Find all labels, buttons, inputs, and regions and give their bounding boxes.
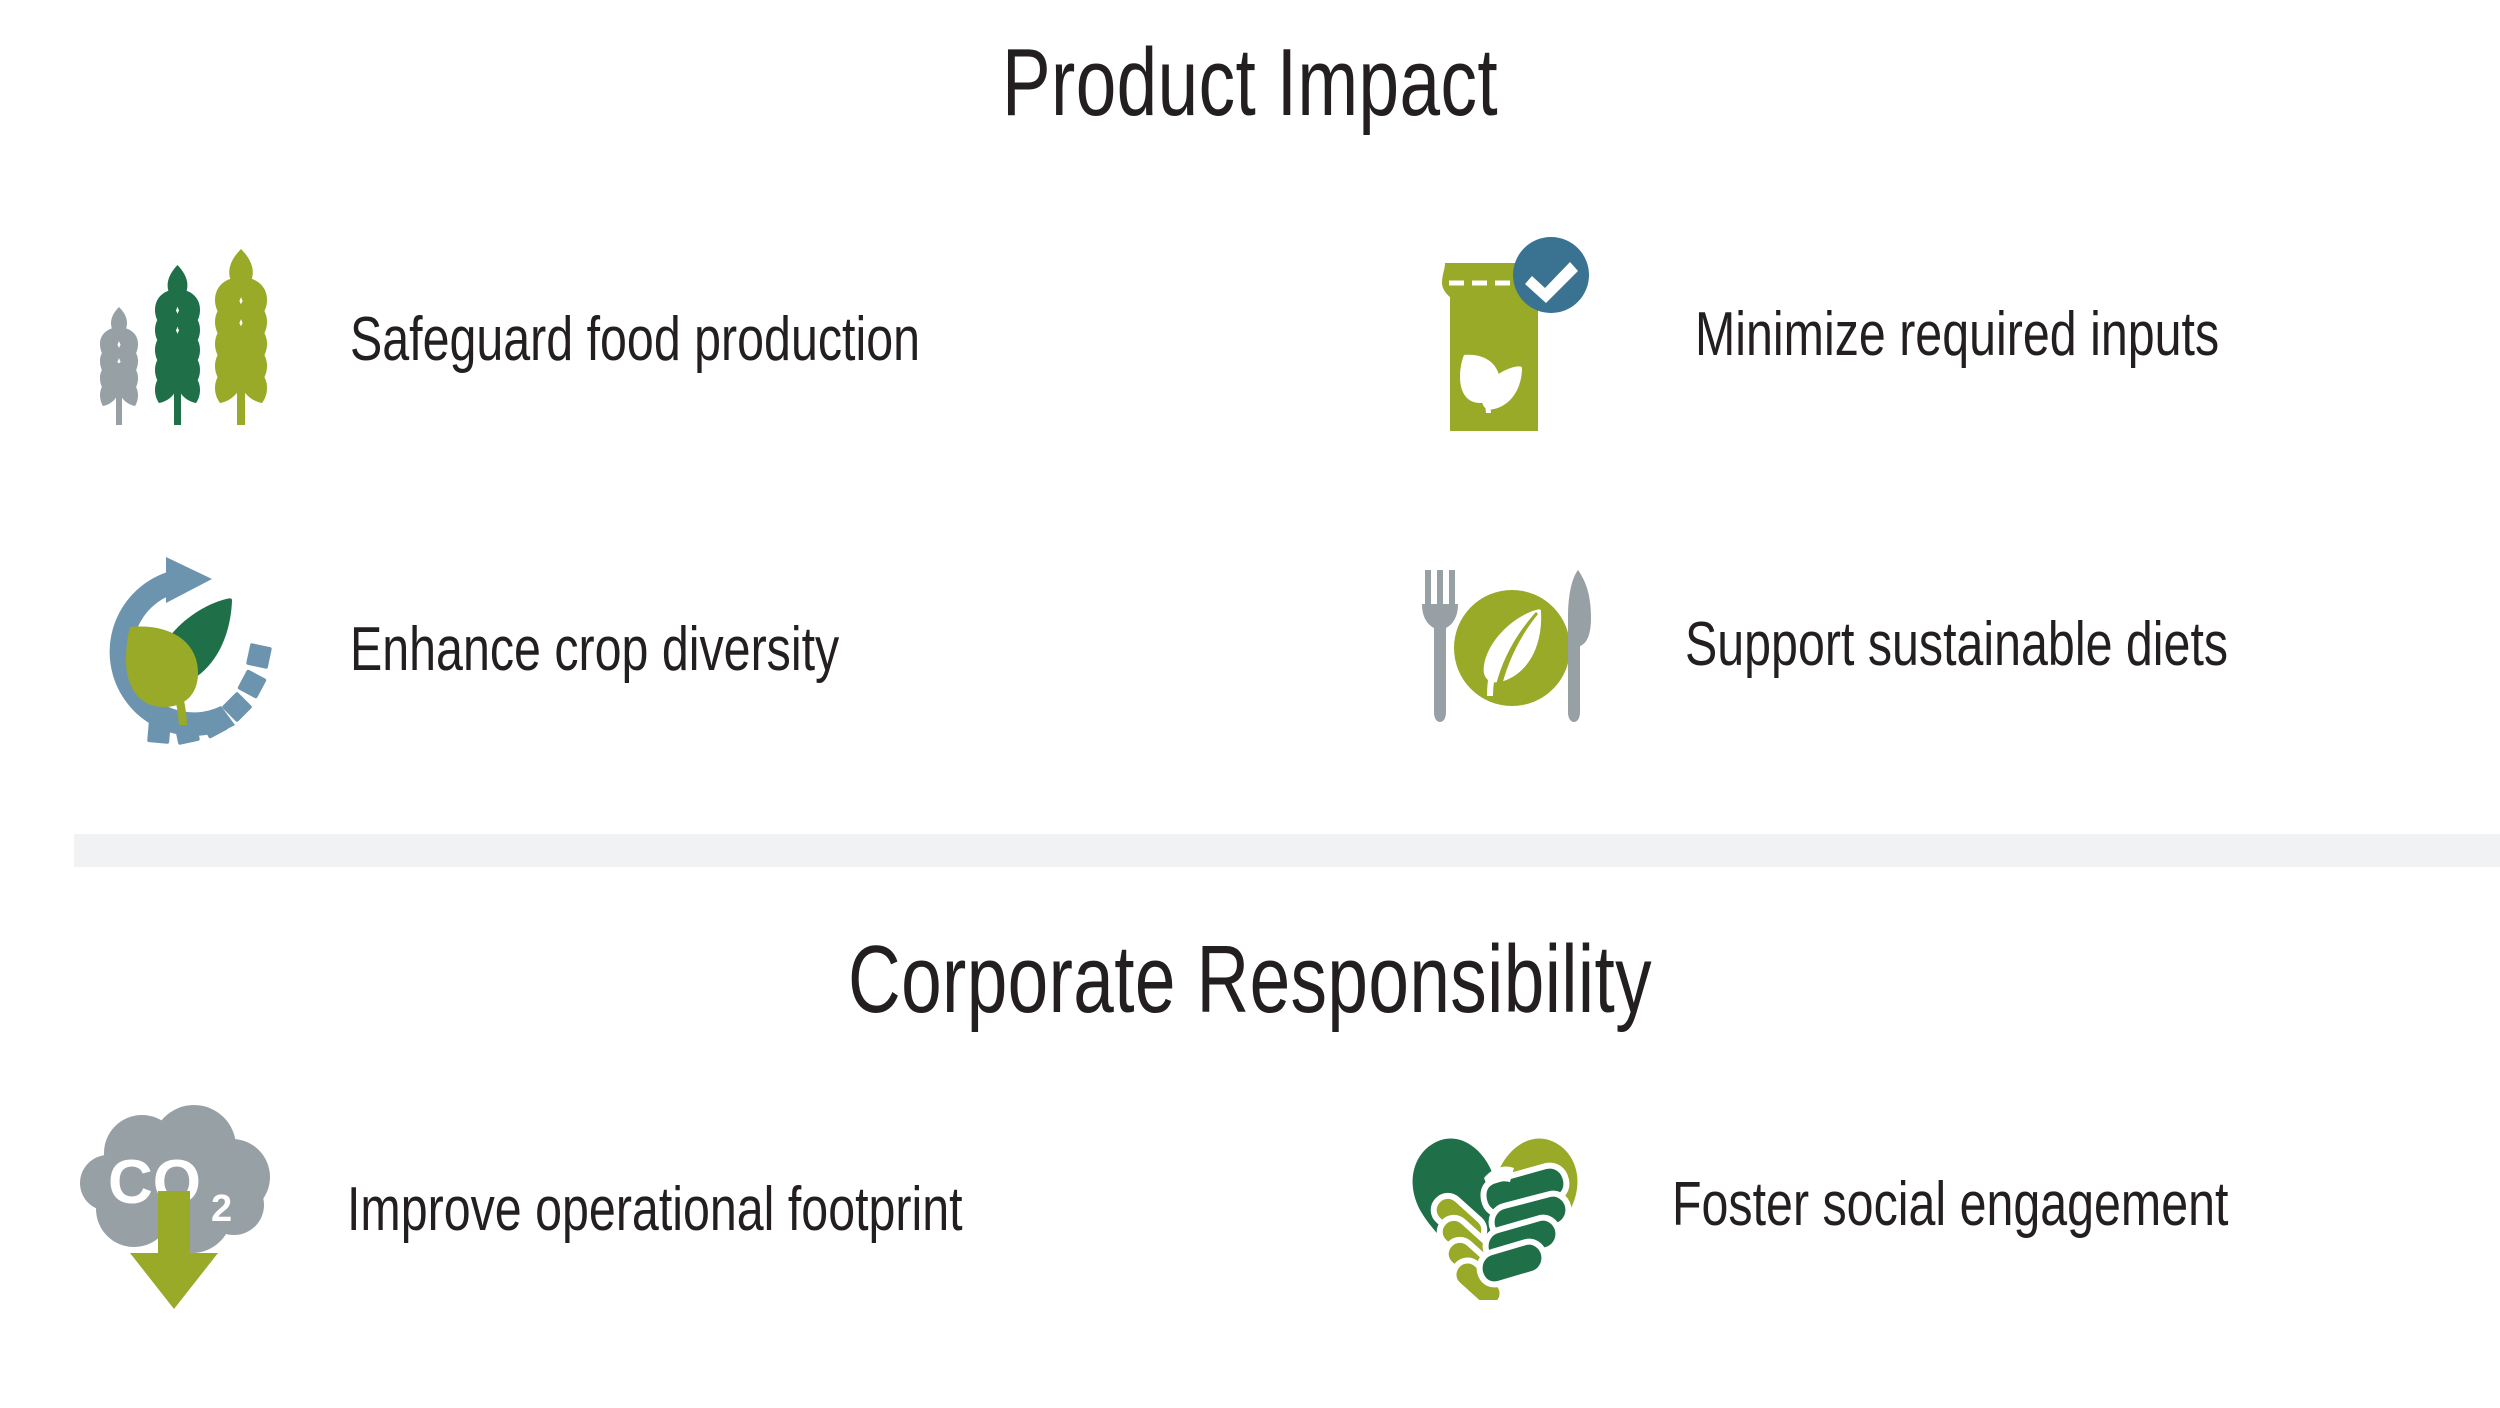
co2-icon-subscript: 2 [211,1188,232,1230]
item-label-minimize: Minimize required inputs [1695,300,2219,370]
handshake-heart-icon [1400,1110,1590,1300]
section-title-product-impact: Product Impact [300,28,2200,138]
item-improve-operational-footprint[interactable]: CO 2 Improve operational footprint [72,1105,1136,1315]
item-label-enhance: Enhance crop diversity [350,615,839,685]
item-safeguard-food-production[interactable]: Safeguard food production [80,245,1081,435]
slide-canvas: Product Impact [0,0,2500,1408]
item-label-safeguard: Safeguard food production [350,305,920,375]
item-minimize-required-inputs[interactable]: Minimize required inputs [1420,235,2367,435]
co2-cloud-down-arrow-icon: CO 2 [72,1105,277,1315]
section-divider [74,834,2500,867]
crop-rotation-leaves-icon [80,555,280,745]
section-title-corporate-responsibility: Corporate Responsibility [300,925,2200,1035]
item-enhance-crop-diversity[interactable]: Enhance crop diversity [80,555,977,745]
item-label-footprint: Improve operational footprint [347,1175,963,1245]
wheat-stalks-icon [80,245,280,435]
seed-bag-check-icon [1420,235,1595,435]
item-foster-social-engagement[interactable]: Foster social engagement [1400,1110,2385,1300]
plate-cutlery-leaf-icon [1408,560,1603,730]
item-support-sustainable-diets[interactable]: Support sustainable diets [1408,560,2381,730]
item-label-social: Foster social engagement [1672,1170,2228,1240]
item-label-diets: Support sustainable diets [1685,610,2228,680]
